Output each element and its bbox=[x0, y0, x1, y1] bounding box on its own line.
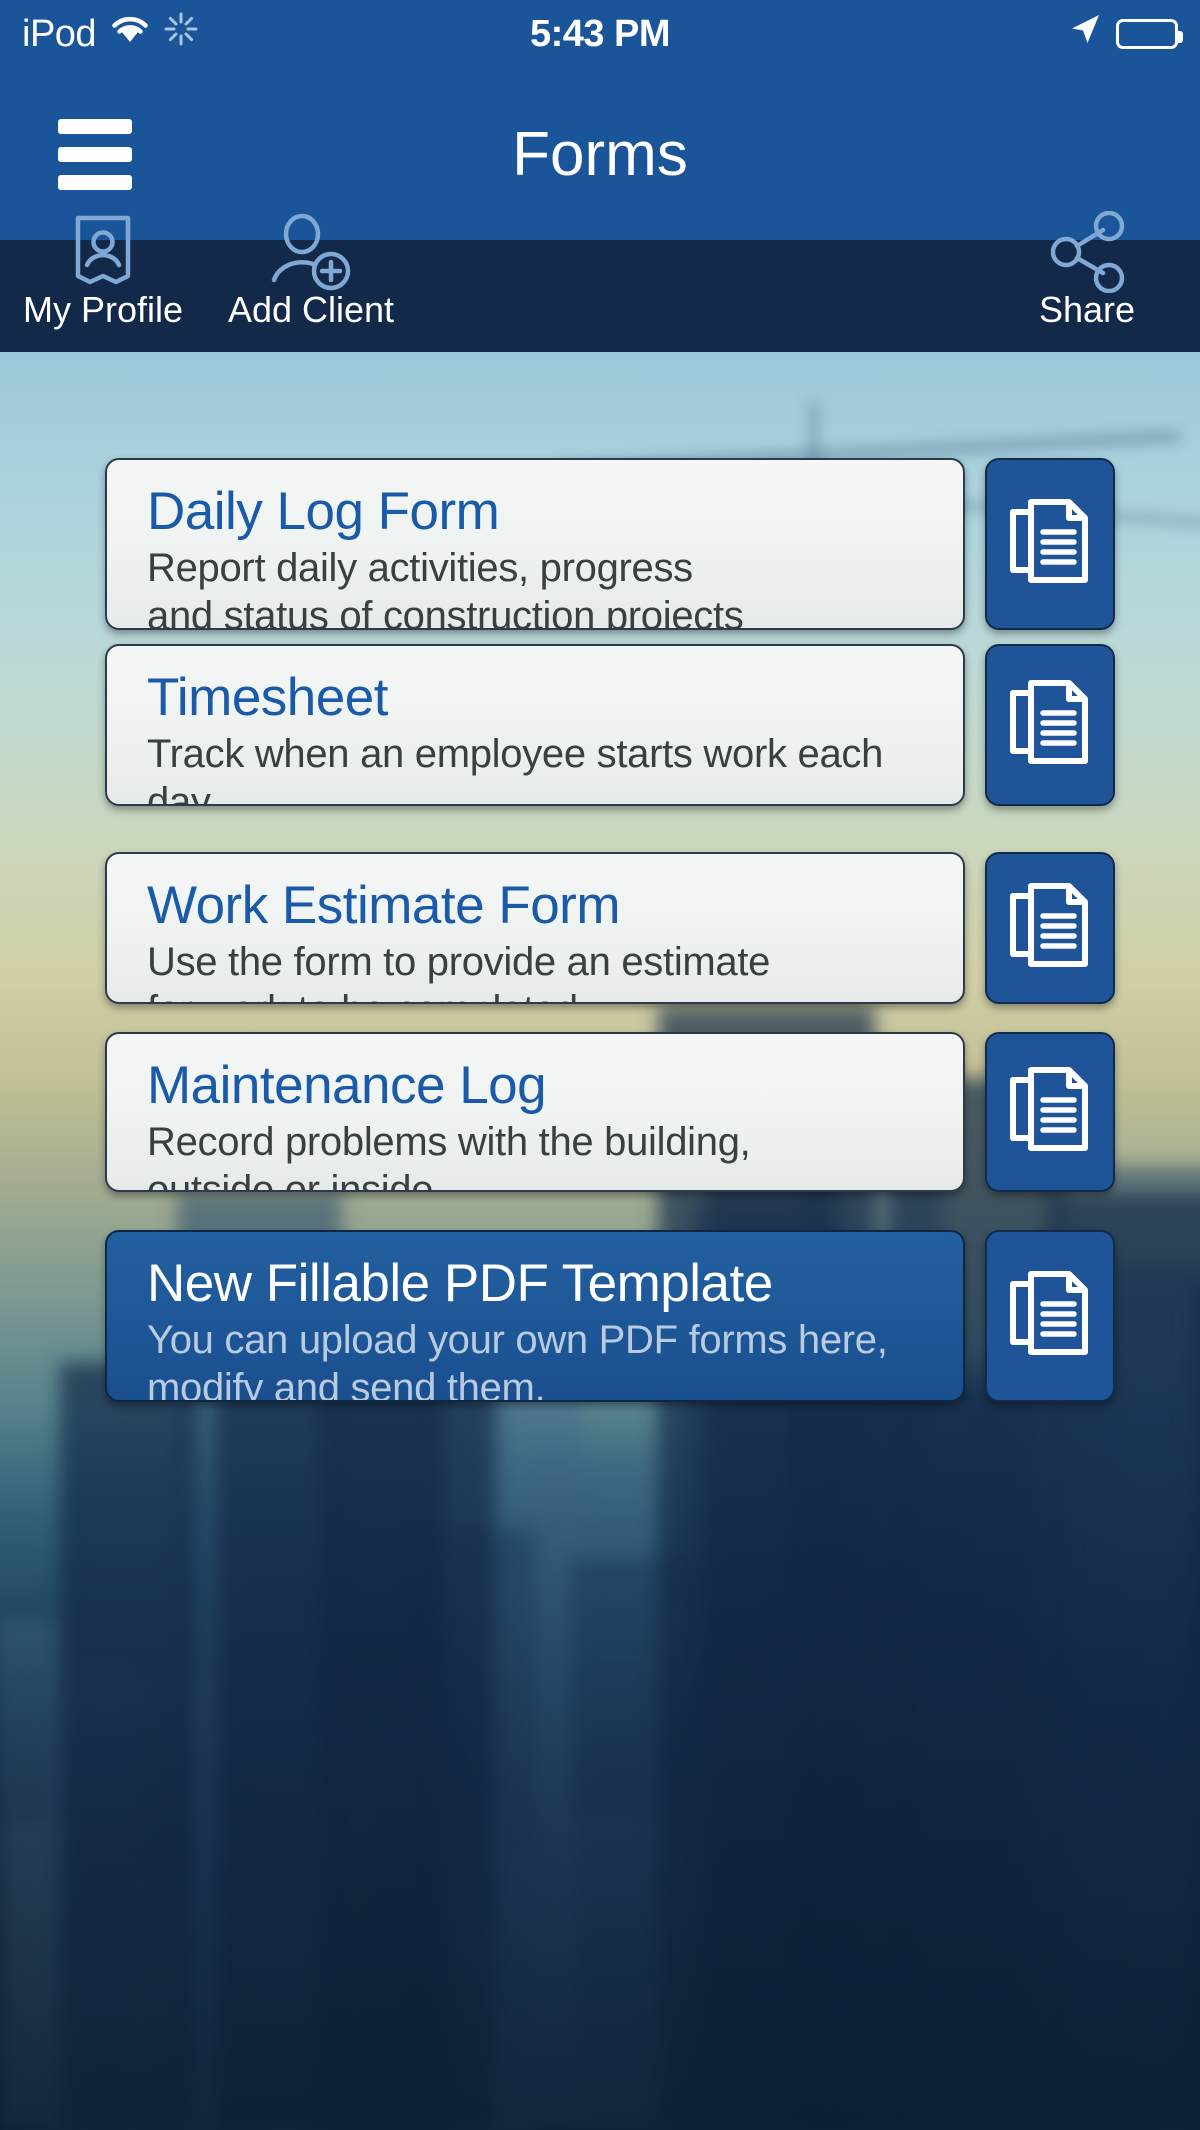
form-card-description-line: modify and send them. bbox=[147, 1365, 933, 1402]
share-network-icon bbox=[1043, 216, 1131, 288]
form-card[interactable]: TimesheetTrack when an employee starts w… bbox=[105, 644, 965, 806]
toolbar-item-my-profile[interactable]: My Profile bbox=[14, 240, 192, 352]
form-card-description-line: You can upload your own PDF forms here, bbox=[147, 1317, 933, 1364]
hamburger-bar-1 bbox=[58, 119, 132, 134]
form-card-description-line: Record problems with the building, bbox=[147, 1119, 933, 1166]
nav-bar: Forms bbox=[0, 68, 1200, 240]
document-copy-icon-svg bbox=[1007, 1268, 1093, 1360]
add-person-icon bbox=[263, 216, 359, 288]
form-card-description-line: for work to be completed bbox=[147, 987, 933, 1004]
activity-spinner-icon bbox=[164, 12, 198, 56]
toolbar-label-my-profile: My Profile bbox=[23, 292, 183, 328]
document-copy-icon bbox=[1007, 880, 1093, 977]
form-card-title: Maintenance Log bbox=[147, 1056, 933, 1115]
document-copy-icon bbox=[1007, 1064, 1093, 1161]
form-card-description-line: Use the form to provide an estimate bbox=[147, 939, 933, 986]
toolbar-label-add-client: Add Client bbox=[228, 292, 394, 328]
document-copy-icon bbox=[1007, 677, 1093, 774]
document-copy-icon-svg bbox=[1007, 677, 1093, 769]
form-document-button[interactable] bbox=[985, 458, 1115, 630]
form-card-description-line: Track when an employee starts work each … bbox=[147, 731, 933, 806]
battery-icon bbox=[1116, 19, 1178, 49]
form-card-description-line: outside or inside bbox=[147, 1167, 933, 1192]
form-card[interactable]: Daily Log FormReport daily activities, p… bbox=[105, 458, 965, 630]
form-card-title: New Fillable PDF Template bbox=[147, 1254, 933, 1313]
form-document-button[interactable] bbox=[985, 1032, 1115, 1192]
form-card[interactable]: New Fillable PDF TemplateYou can upload … bbox=[105, 1230, 965, 1402]
form-card-title: Daily Log Form bbox=[147, 482, 933, 541]
form-card-description-line: Report daily activities, progress bbox=[147, 545, 933, 592]
profile-card-icon bbox=[64, 216, 142, 288]
status-bar-right bbox=[1068, 12, 1178, 56]
toolbar-item-add-client[interactable]: Add Client bbox=[200, 240, 422, 352]
form-card[interactable]: Work Estimate FormUse the form to provid… bbox=[105, 852, 965, 1004]
hamburger-bar-2 bbox=[58, 147, 132, 162]
page-title: Forms bbox=[0, 119, 1200, 190]
document-copy-icon-svg bbox=[1007, 496, 1093, 588]
document-copy-icon-svg bbox=[1007, 880, 1093, 972]
document-copy-icon-svg bbox=[1007, 1064, 1093, 1156]
app-screen: iPod bbox=[0, 0, 1200, 2130]
location-arrow-icon bbox=[1068, 12, 1102, 56]
document-copy-icon bbox=[1007, 496, 1093, 593]
form-document-button[interactable] bbox=[985, 1230, 1115, 1402]
status-bar-left: iPod bbox=[22, 12, 198, 56]
form-card-description-line: and status of construction projects bbox=[147, 593, 933, 630]
wifi-icon bbox=[110, 13, 150, 56]
toolbar-item-share[interactable]: Share bbox=[992, 240, 1182, 352]
hamburger-bar-3 bbox=[58, 175, 132, 190]
status-bar: iPod bbox=[0, 0, 1200, 68]
form-card-title: Timesheet bbox=[147, 668, 933, 727]
hamburger-menu-icon[interactable] bbox=[58, 119, 132, 190]
form-card[interactable]: Maintenance LogRecord problems with the … bbox=[105, 1032, 965, 1192]
form-card-title: Work Estimate Form bbox=[147, 876, 933, 935]
carrier-label: iPod bbox=[22, 13, 96, 56]
document-copy-icon bbox=[1007, 1268, 1093, 1365]
form-document-button[interactable] bbox=[985, 644, 1115, 806]
form-document-button[interactable] bbox=[985, 852, 1115, 1004]
toolbar-label-share: Share bbox=[1039, 292, 1135, 328]
action-toolbar: My Profile Add Client bbox=[0, 240, 1200, 352]
